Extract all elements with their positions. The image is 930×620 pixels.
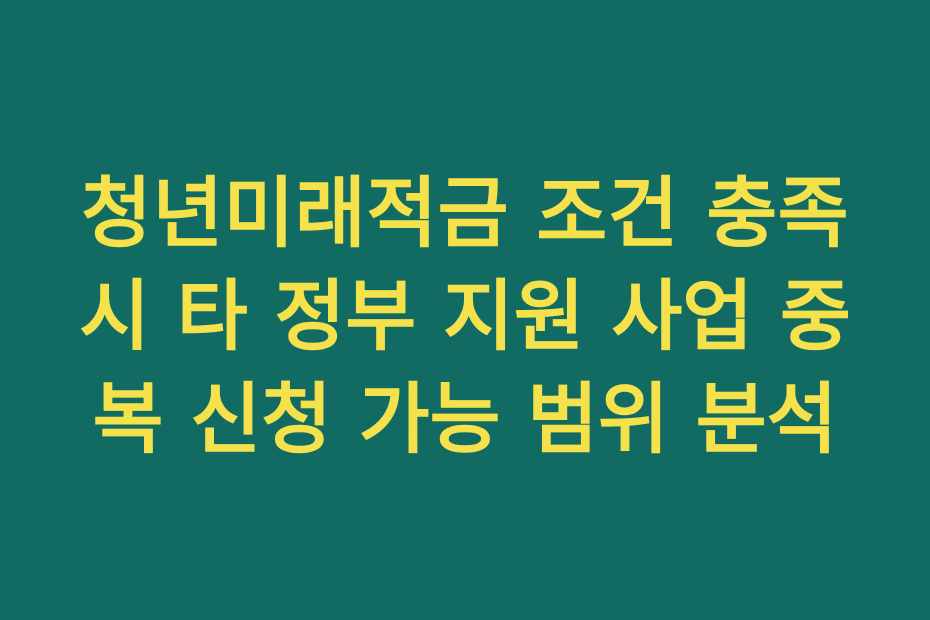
headline-line-2: 시 타 정부 지원 사업 중 xyxy=(40,266,890,369)
headline-line-3: 복 신청 가능 범위 분석 xyxy=(40,369,890,472)
headline-block: 청년미래적금 조건 충족 시 타 정부 지원 사업 중 복 신청 가능 범위 분… xyxy=(0,163,930,472)
thumbnail-canvas: 청년미래적금 조건 충족 시 타 정부 지원 사업 중 복 신청 가능 범위 분… xyxy=(0,0,930,620)
headline-line-1: 청년미래적금 조건 충족 xyxy=(40,163,890,266)
